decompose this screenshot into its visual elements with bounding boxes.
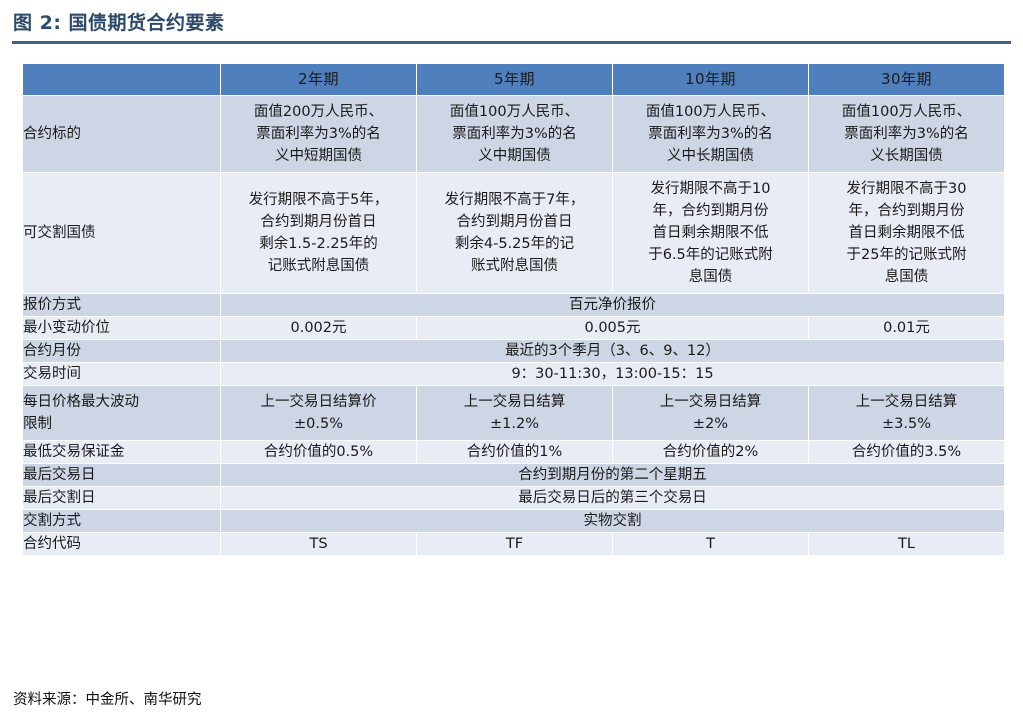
table-row: 最后交割日最后交易日后的第三个交易日 (23, 487, 1004, 509)
figure-title-block: 图 2: 国债期货合约要素 (12, 10, 1011, 44)
row-label: 合约标的 (23, 96, 220, 172)
table-header-row: 2年期 5年期 10年期 30年期 (23, 64, 1004, 95)
table-cell: 上一交易日结算价±0.5% (221, 386, 416, 440)
table-cell: TF (417, 533, 612, 555)
page-title: 图 2: 国债期货合约要素 (12, 10, 1011, 36)
row-label: 最后交割日 (23, 487, 220, 509)
table-row: 合约代码TSTFTTL (23, 533, 1004, 555)
row-label: 报价方式 (23, 294, 220, 316)
row-label: 合约代码 (23, 533, 220, 555)
table-cell: 最后交易日后的第三个交易日 (221, 487, 1004, 509)
table-row: 最小变动价位0.002元0.005元0.01元 (23, 317, 1004, 339)
table-cell: 实物交割 (221, 510, 1004, 532)
title-divider (12, 41, 1011, 44)
row-label: 最后交易日 (23, 464, 220, 486)
table-cell: 0.002元 (221, 317, 416, 339)
table-cell: 面值100万人民币、票面利率为3%的名义长期国债 (809, 96, 1004, 172)
column-header-10y: 10年期 (613, 64, 808, 95)
table-cell: 合约价值的0.5% (221, 441, 416, 463)
table-cell: 合约价值的3.5% (809, 441, 1004, 463)
table-cell: 百元净价报价 (221, 294, 1004, 316)
table-cell: 0.01元 (809, 317, 1004, 339)
contract-elements-table: 2年期 5年期 10年期 30年期 合约标的面值200万人民币、票面利率为3%的… (22, 63, 1005, 556)
table-row: 交割方式实物交割 (23, 510, 1004, 532)
row-label: 每日价格最大波动限制 (23, 386, 220, 440)
table-cell: 合约价值的1% (417, 441, 612, 463)
table-cell: TL (809, 533, 1004, 555)
row-label: 最小变动价位 (23, 317, 220, 339)
table-cell: T (613, 533, 808, 555)
column-header-2y: 2年期 (221, 64, 416, 95)
contract-elements-table-wrap: 2年期 5年期 10年期 30年期 合约标的面值200万人民币、票面利率为3%的… (22, 63, 1003, 556)
table-row: 报价方式百元净价报价 (23, 294, 1004, 316)
table-row: 最低交易保证金合约价值的0.5%合约价值的1%合约价值的2%合约价值的3.5% (23, 441, 1004, 463)
table-header: 2年期 5年期 10年期 30年期 (23, 64, 1004, 95)
table-cell: 0.005元 (417, 317, 808, 339)
table-cell: 上一交易日结算±3.5% (809, 386, 1004, 440)
table-cell: TS (221, 533, 416, 555)
table-row: 合约标的面值200万人民币、票面利率为3%的名义中短期国债面值100万人民币、票… (23, 96, 1004, 172)
row-label: 合约月份 (23, 340, 220, 362)
column-header-30y: 30年期 (809, 64, 1004, 95)
row-label: 交割方式 (23, 510, 220, 532)
table-cell: 上一交易日结算±2% (613, 386, 808, 440)
table-cell: 发行期限不高于7年，合约到期月份首日剩余4-5.25年的记账式附息国债 (417, 173, 612, 293)
table-cell: 发行期限不高于5年，合约到期月份首日剩余1.5-2.25年的记账式附息国债 (221, 173, 416, 293)
table-cell: 面值100万人民币、票面利率为3%的名义中长期国债 (613, 96, 808, 172)
table-body: 合约标的面值200万人民币、票面利率为3%的名义中短期国债面值100万人民币、票… (23, 96, 1004, 555)
table-row: 合约月份最近的3个季月（3、6、9、12） (23, 340, 1004, 362)
column-header-5y: 5年期 (417, 64, 612, 95)
table-cell: 合约到期月份的第二个星期五 (221, 464, 1004, 486)
table-cell: 9：30-11:30，13:00-15：15 (221, 363, 1004, 385)
row-label: 交易时间 (23, 363, 220, 385)
table-row: 最后交易日合约到期月份的第二个星期五 (23, 464, 1004, 486)
row-label: 可交割国债 (23, 173, 220, 293)
table-cell: 合约价值的2% (613, 441, 808, 463)
table-cell: 上一交易日结算±1.2% (417, 386, 612, 440)
table-cell: 最近的3个季月（3、6、9、12） (221, 340, 1004, 362)
source-footnote: 资料来源：中金所、南华研究 (13, 690, 202, 710)
table-cell: 发行期限不高于10年，合约到期月份首日剩余期限不低于6.5年的记账式附息国债 (613, 173, 808, 293)
table-row: 交易时间9：30-11:30，13:00-15：15 (23, 363, 1004, 385)
row-label: 最低交易保证金 (23, 441, 220, 463)
table-cell: 发行期限不高于30年，合约到期月份首日剩余期限不低于25年的记账式附息国债 (809, 173, 1004, 293)
table-row: 每日价格最大波动限制上一交易日结算价±0.5%上一交易日结算±1.2%上一交易日… (23, 386, 1004, 440)
table-row: 可交割国债发行期限不高于5年，合约到期月份首日剩余1.5-2.25年的记账式附息… (23, 173, 1004, 293)
table-corner-cell (23, 64, 220, 95)
table-cell: 面值100万人民币、票面利率为3%的名义中期国债 (417, 96, 612, 172)
table-cell: 面值200万人民币、票面利率为3%的名义中短期国债 (221, 96, 416, 172)
